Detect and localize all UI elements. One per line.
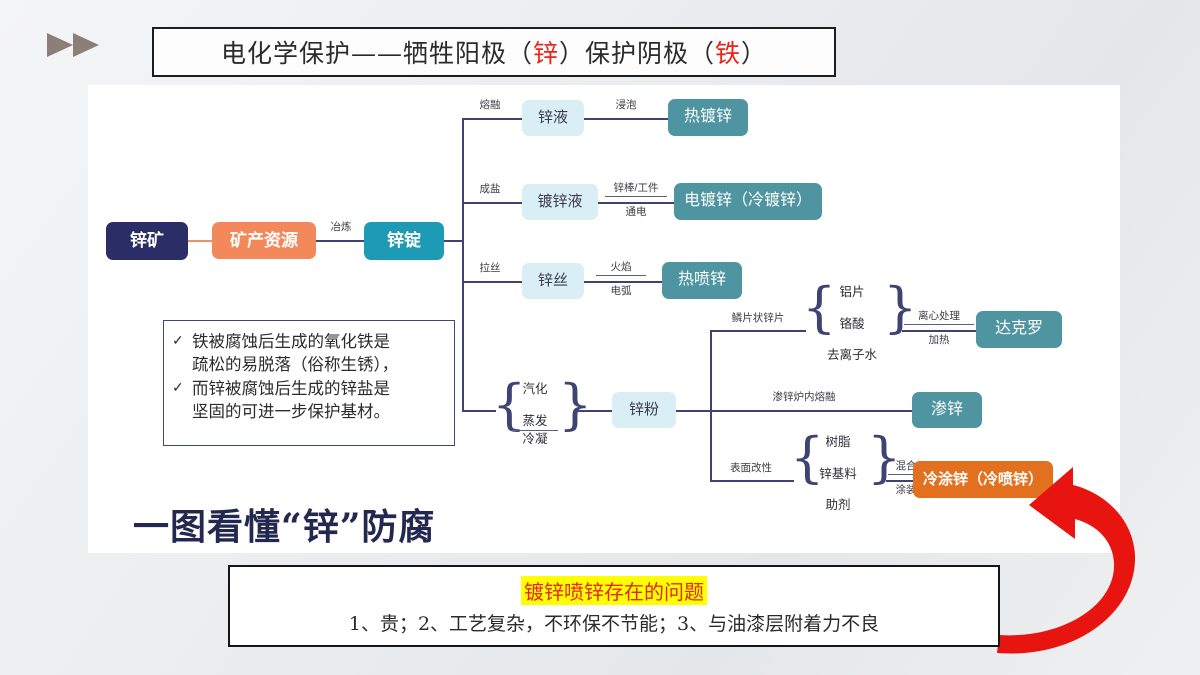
node-zinc-liquid: 锌液 — [522, 100, 584, 136]
check-icon: ✓ — [172, 330, 192, 352]
node-zinc-ore: 锌矿 — [106, 222, 188, 260]
title-suffix: ） — [741, 39, 767, 68]
edge-label-melting: 熔融 — [473, 99, 507, 112]
node-hot-dip-galvanizing: 热镀锌 — [668, 99, 748, 136]
edge-label-furnace-melting: 渗锌炉内熔融 — [756, 391, 852, 404]
title-highlight-iron: 铁 — [715, 39, 741, 68]
node-plating-solution: 镀锌液 — [522, 184, 598, 220]
diagram-heading: 一图看懂“锌”防腐 — [133, 498, 435, 550]
bullet-text: 而锌被腐蚀后生成的锌盐是 坚固的可进一步保护基材。 — [192, 377, 444, 424]
connector-ore-mineral — [188, 240, 212, 242]
check-icon: ✓ — [172, 377, 192, 399]
title-middle: ）保护阴极（ — [559, 39, 715, 68]
bullet-item: ✓ 铁被腐蚀后生成的氧化铁是 疏松的易脱落（俗称生锈）， — [172, 330, 444, 377]
connector-trunk-zinc-liquid — [462, 118, 522, 120]
connector-trunk2-coldcoat-group — [710, 480, 794, 482]
diagram-card: 锌矿 矿产资源 冶炼 锌锭 熔融 锌液 浸泡 热镀锌 成盐 镀锌液 锌棒/工件 … — [88, 85, 1120, 553]
brace-close-dacromet: { — [883, 281, 917, 335]
bullet-text: 铁被腐蚀后生成的氧化铁是 疏松的易脱落（俗称生锈）， — [192, 330, 444, 377]
edge-label-energize: 通电 — [605, 206, 667, 219]
bullet-line: 铁被腐蚀后生成的氧化铁是 — [192, 330, 444, 353]
edge-label-flame: 火焰 — [596, 261, 646, 276]
connector-trunk-zinc-wire — [462, 281, 522, 283]
group-item-additive: 助剂 — [809, 494, 867, 513]
edge-label-wire-drawing: 拉丝 — [473, 262, 507, 275]
chevron-right-icon — [47, 33, 73, 57]
node-zinc-wire: 锌丝 — [522, 263, 584, 299]
connector-powder-group-node — [576, 410, 612, 412]
edge-label-heating: 加热 — [904, 334, 974, 347]
bullet-line: 坚固的可进一步保护基材。 — [192, 400, 444, 423]
group-item-condense: 冷凝 — [512, 428, 558, 447]
problem-box: 镀锌喷锌存在的问题 1、贵；2、工艺复杂，不环保不节能；3、与油漆层附着力不良 — [228, 565, 1000, 647]
node-dacromet: 达克罗 — [976, 311, 1062, 348]
group-item-vaporize: 汽化 — [512, 378, 558, 397]
edge-label-flake-zinc: 鳞片状锌片 — [720, 312, 796, 325]
bullet-line: 疏松的易脱落（俗称生锈）， — [192, 353, 444, 376]
edge-label-zinc-rod-workpiece: 锌棒/工件 — [605, 182, 667, 197]
edge-label-smelting: 冶炼 — [323, 221, 359, 234]
title-prefix: 电化学保护——牺牲阳极（ — [221, 39, 533, 68]
trunk-secondary-vertical — [710, 330, 712, 480]
node-zinc-ingot: 锌锭 — [364, 222, 444, 260]
chevron-right-icon — [73, 33, 99, 57]
node-thermal-spray: 热喷锌 — [662, 262, 742, 299]
bullet-line: 而锌被腐蚀后生成的锌盐是 — [192, 377, 444, 400]
group-item-zinc-base: 锌基料 — [809, 463, 867, 482]
edge-label-arc: 电弧 — [596, 285, 646, 298]
explanation-box: ✓ 铁被腐蚀后生成的氧化铁是 疏松的易脱落（俗称生锈）， ✓ 而锌被腐蚀后生成的… — [163, 320, 455, 446]
slide-root: 电化学保护——牺牲阳极（锌）保护阴极（铁） 锌矿 矿产资源 冶炼 锌锭 熔融 锌… — [0, 0, 1200, 675]
connector-ingot-trunk — [444, 240, 462, 242]
group-item-resin: 树脂 — [809, 431, 867, 450]
node-electroplating: 电镀锌（冷镀锌） — [674, 183, 822, 220]
connector-trunk-powder-group — [462, 410, 496, 412]
edge-label-surface-modification: 表面改性 — [718, 462, 784, 475]
node-sherardizing: 渗锌 — [912, 392, 982, 428]
brace-close-powder: { — [558, 378, 592, 432]
connector-plating-electro — [598, 202, 674, 204]
group-item-chromic-acid: 铬酸 — [821, 313, 883, 332]
red-curved-arrow-icon — [985, 463, 1150, 658]
page-title: 电化学保护——牺牲阳极（锌）保护阴极（铁） — [221, 34, 767, 70]
bullet-item: ✓ 而锌被腐蚀后生成的锌盐是 坚固的可进一步保护基材。 — [172, 377, 444, 424]
edge-label-centrifuge: 离心处理 — [904, 310, 974, 325]
connector-powder-trunk2 — [676, 410, 710, 412]
decorative-chevrons — [47, 29, 115, 63]
connector-zinc-liquid-hotdip — [584, 118, 668, 120]
connector-zinc-wire-spray — [584, 281, 662, 283]
group-item-aluminum-flake: 铝片 — [821, 281, 883, 300]
title-highlight-zinc: 锌 — [533, 39, 559, 68]
slide-title-box: 电化学保护——牺牲阳极（锌）保护阴极（铁） — [152, 27, 836, 77]
node-zinc-powder: 锌粉 — [612, 392, 676, 428]
edge-label-salt-forming: 成盐 — [473, 183, 507, 196]
connector-mineral-ingot — [316, 240, 364, 242]
connector-dacromet-group-node — [902, 330, 976, 332]
connector-trunk2-dacromet-group — [710, 330, 806, 332]
trunk-main-vertical — [462, 118, 464, 410]
brace-close-coldcoat: { — [867, 431, 901, 485]
connector-trunk-plating-solution — [462, 202, 522, 204]
group-item-deionized-water: 去离子水 — [821, 344, 883, 363]
node-mineral-resource: 矿产资源 — [212, 222, 316, 259]
problem-title: 镀锌喷锌存在的问题 — [521, 576, 707, 605]
edge-label-soaking: 浸泡 — [606, 99, 646, 112]
problem-body: 1、贵；2、工艺复杂，不环保不节能；3、与油漆层附着力不良 — [349, 609, 879, 636]
connector-trunk2-sherardizing — [710, 410, 912, 412]
